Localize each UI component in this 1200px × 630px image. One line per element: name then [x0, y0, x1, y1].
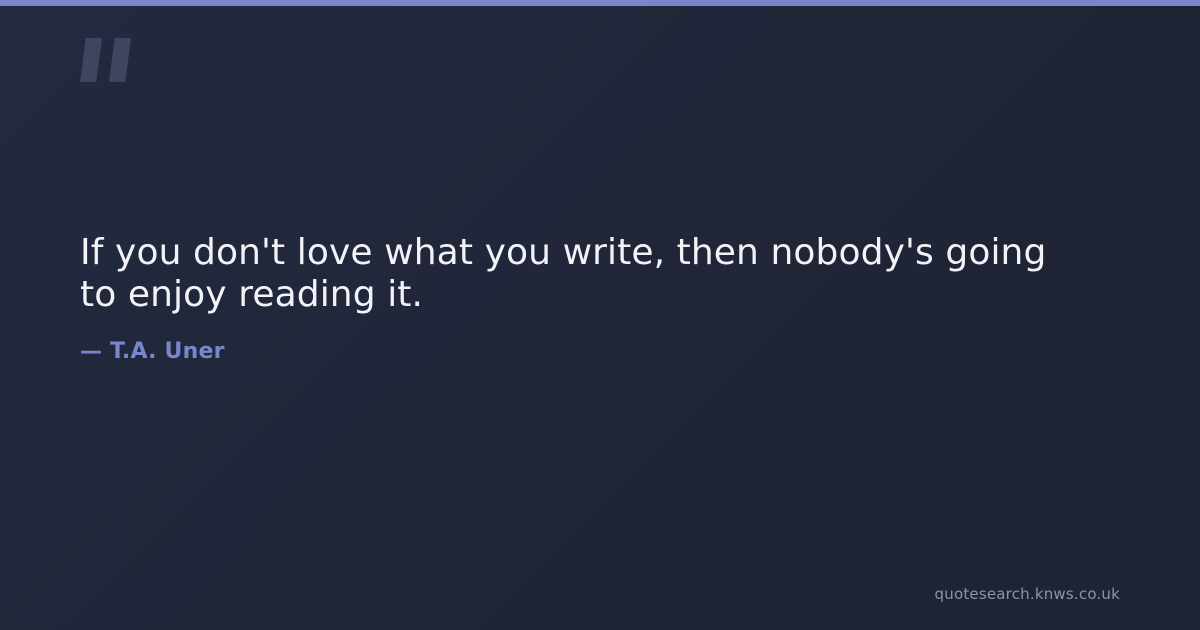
- quote-wedge-right: [109, 38, 131, 82]
- quote-text: If you don't love what you write, then n…: [80, 232, 1090, 316]
- site-watermark: quotesearch.knws.co.uk: [935, 584, 1120, 604]
- quote-content: If you don't love what you write, then n…: [80, 232, 1120, 366]
- top-accent-bar: [0, 0, 1200, 6]
- quote-card: If you don't love what you write, then n…: [0, 0, 1200, 630]
- quote-attribution: — T.A. Uner: [80, 316, 1120, 366]
- quote-wedge-left: [80, 38, 102, 82]
- open-double-quote-icon: [80, 38, 136, 82]
